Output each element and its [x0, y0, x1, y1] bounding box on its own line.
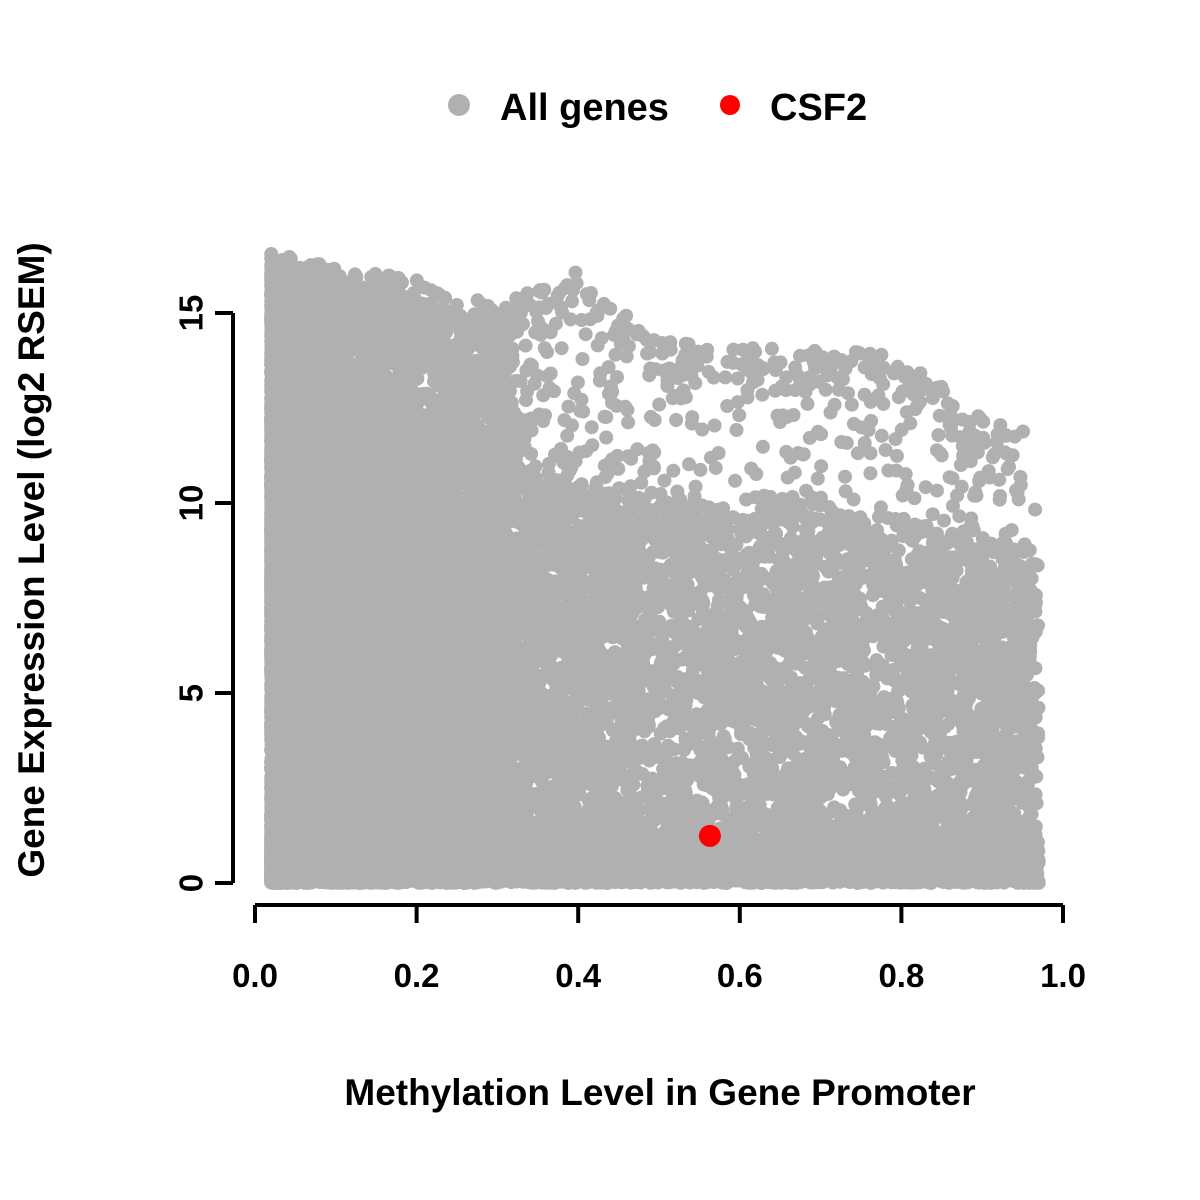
legend-marker-all-genes — [448, 94, 470, 116]
y-tick-label: 10 — [173, 485, 210, 522]
x-tick-label: 0.8 — [878, 957, 924, 994]
y-tick-label: 5 — [173, 684, 210, 702]
scatter-plot-figure: 0.00.20.40.60.81.0 051015 Methylation Le… — [0, 0, 1200, 1200]
x-axis-title: Methylation Level in Gene Promoter — [344, 1072, 975, 1113]
series-csf2-highlight — [699, 825, 721, 847]
x-tick-label: 0.2 — [394, 957, 440, 994]
legend-label-csf2: CSF2 — [770, 87, 867, 129]
x-tick-label: 0.6 — [717, 957, 763, 994]
legend-label-all-genes: All genes — [500, 87, 669, 129]
y-tick-label: 0 — [173, 874, 210, 892]
plot-canvas: 0.00.20.40.60.81.0 051015 Methylation Le… — [0, 0, 1200, 1200]
y-tick-label: 15 — [173, 295, 210, 332]
x-tick-label: 0.0 — [232, 957, 278, 994]
y-axis-title: Gene Expression Level (log2 RSEM) — [11, 242, 52, 877]
data-point-csf2 — [699, 825, 721, 847]
legend-marker-csf2 — [720, 95, 740, 115]
x-tick-label: 0.4 — [555, 957, 602, 994]
x-tick-label: 1.0 — [1040, 957, 1086, 994]
legend: All genes CSF2 — [448, 87, 867, 129]
